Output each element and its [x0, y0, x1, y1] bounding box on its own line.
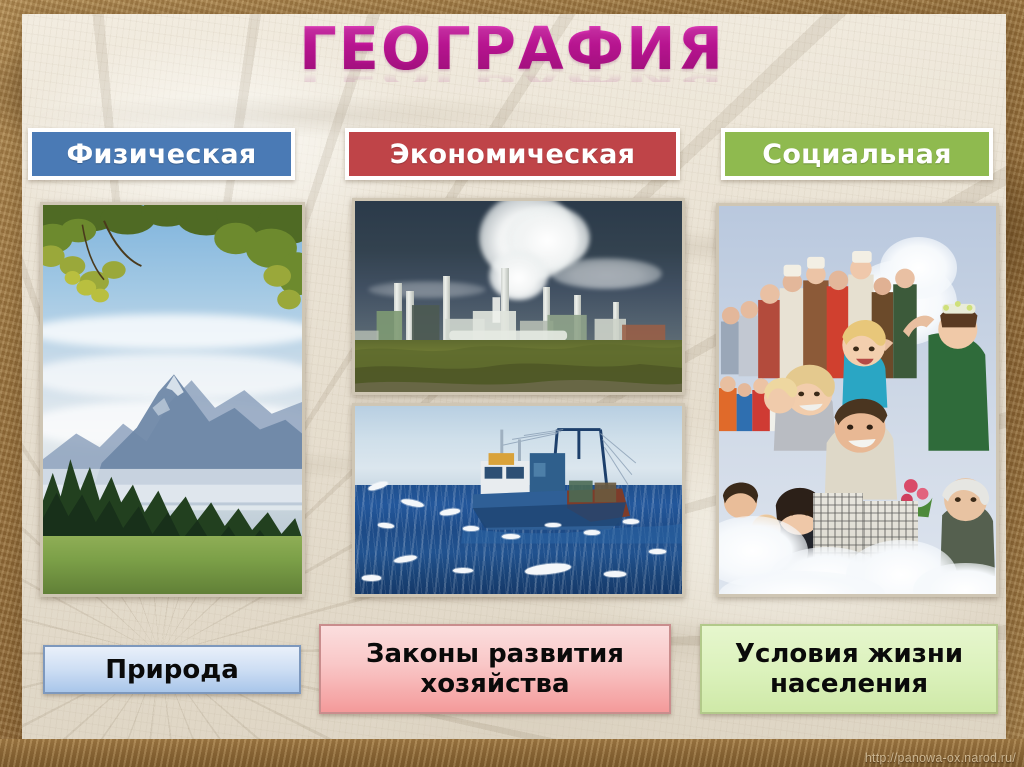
foreground-grass	[355, 201, 682, 394]
caption-nature-text: Природа	[105, 655, 239, 685]
caption-nature[interactable]: Природа	[43, 645, 301, 694]
label-physical-text: Физическая	[66, 139, 256, 170]
caption-economic[interactable]: Законы развития хозяйства	[319, 624, 671, 714]
seagull	[453, 568, 473, 574]
label-physical[interactable]: Физическая	[28, 128, 295, 180]
seagull	[649, 549, 665, 554]
people-collage-photo	[716, 203, 999, 597]
seagull	[623, 519, 639, 524]
meadow	[43, 536, 302, 594]
title-block: ГЕОГРАФИЯ ГЕОГРАФИЯ	[0, 18, 1024, 114]
caption-social-text: Условия жизни населения	[735, 639, 963, 699]
source-watermark: http://panowa-ox.narod.ru/	[865, 751, 1016, 765]
caption-economic-text: Законы развития хозяйства	[366, 639, 624, 699]
caption-social[interactable]: Условия жизни населения	[700, 624, 998, 714]
mountain-landscape-photo	[40, 202, 305, 597]
factory-smokestacks-photo	[352, 198, 685, 395]
label-social-text: Социальная	[762, 139, 952, 170]
label-economic-text: Экономическая	[390, 139, 636, 170]
label-economic[interactable]: Экономическая	[345, 128, 680, 180]
seagull	[584, 530, 600, 535]
fishing-trawler-photo	[352, 403, 685, 597]
geography-slide: ГЕОГРАФИЯ ГЕОГРАФИЯ Физическая Экономиче…	[0, 0, 1024, 767]
seagull	[362, 575, 382, 581]
label-social[interactable]: Социальная	[721, 128, 993, 180]
seagull	[502, 534, 520, 539]
title-reflection: ГЕОГРАФИЯ	[0, 71, 1024, 82]
